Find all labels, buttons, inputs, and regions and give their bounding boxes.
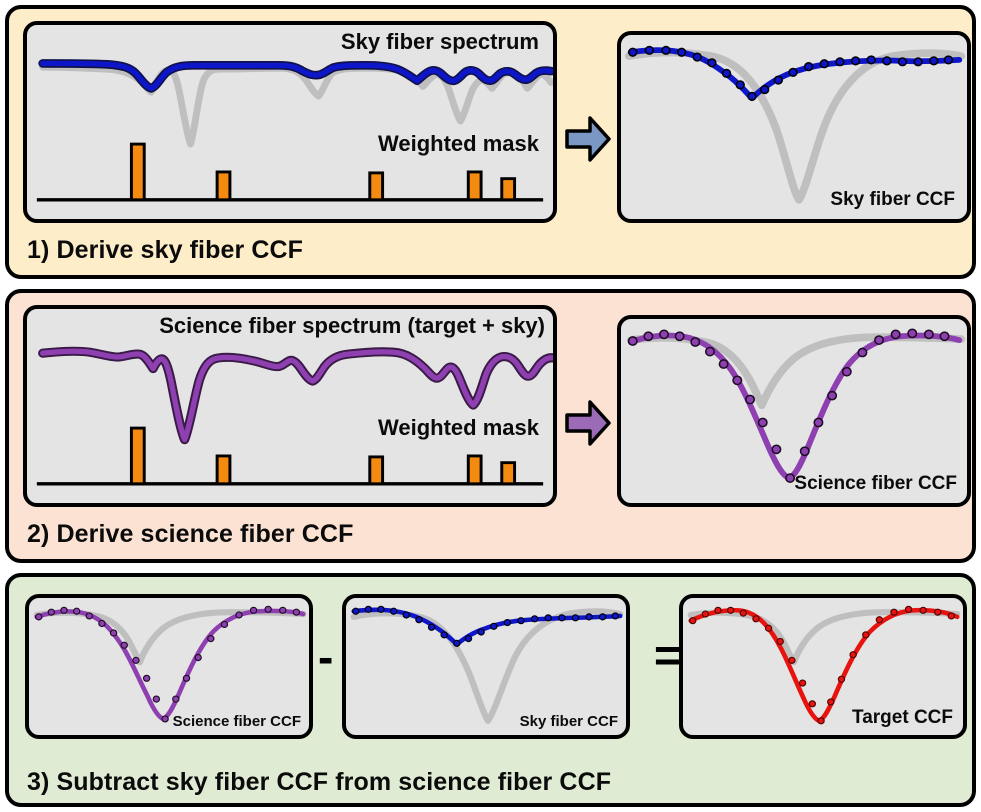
- science-ccf-panel: Science fiber CCF: [617, 315, 971, 507]
- mask-bar: [468, 172, 481, 200]
- reference-ccf-trace: [691, 612, 957, 662]
- step-card-2: Science fiber spectrum (target + sky) We…: [5, 289, 976, 563]
- mask-bar: [131, 144, 144, 200]
- mask-bar: [217, 172, 230, 200]
- sky-ccf-title-small: Sky fiber CCF: [520, 713, 618, 730]
- sky-spectrum-panel: Sky fiber spectrum Weighted mask: [23, 21, 557, 223]
- figure-root: Sky fiber spectrum Weighted mask: [0, 0, 981, 812]
- weighted-mask-title: Weighted mask: [378, 415, 539, 441]
- arrow-right-icon: [564, 113, 612, 165]
- science-ccf-panel-small: Science fiber CCF: [25, 594, 313, 739]
- step-card-1: Sky fiber spectrum Weighted mask: [5, 5, 976, 279]
- mask-bar: [217, 456, 230, 484]
- step-card-3: Science fiber CCF -: [5, 573, 976, 807]
- sky-spectrum-title: Sky fiber spectrum: [341, 29, 539, 55]
- mask-bar: [468, 456, 481, 484]
- mask-bar: [370, 173, 383, 200]
- step-3-label: 3) Subtract sky fiber CCF from science f…: [27, 768, 611, 797]
- step-1-label: 1) Derive sky fiber CCF: [27, 236, 303, 265]
- sky-ccf-panel-small: Sky fiber CCF: [342, 594, 630, 739]
- sky-ccf-title: Sky fiber CCF: [830, 189, 955, 211]
- mask-bar: [131, 428, 144, 484]
- step-2-label: 2) Derive science fiber CCF: [27, 520, 353, 549]
- minus-operator: -: [318, 634, 333, 680]
- target-ccf-panel: Target CCF: [679, 594, 967, 739]
- science-ccf-title-small: Science fiber CCF: [173, 713, 301, 730]
- science-ccf-title: Science fiber CCF: [794, 473, 957, 495]
- mask-bar: [502, 463, 515, 484]
- target-ccf-title: Target CCF: [852, 707, 953, 729]
- equals-operator: =: [654, 632, 681, 678]
- mask-bar: [502, 179, 515, 200]
- science-ccf-markers: [629, 329, 949, 482]
- reference-ccf-trace: [37, 612, 303, 662]
- science-spectrum-title: Science fiber spectrum (target + sky): [159, 313, 545, 339]
- mask-bar: [370, 457, 383, 484]
- reference-ccf-trace: [631, 337, 961, 405]
- sky-ccf-panel: Sky fiber CCF: [617, 31, 971, 223]
- weighted-mask-title: Weighted mask: [378, 131, 539, 157]
- arrow-right-icon: [564, 397, 612, 449]
- science-spectrum-panel: Science fiber spectrum (target + sky) We…: [23, 305, 557, 507]
